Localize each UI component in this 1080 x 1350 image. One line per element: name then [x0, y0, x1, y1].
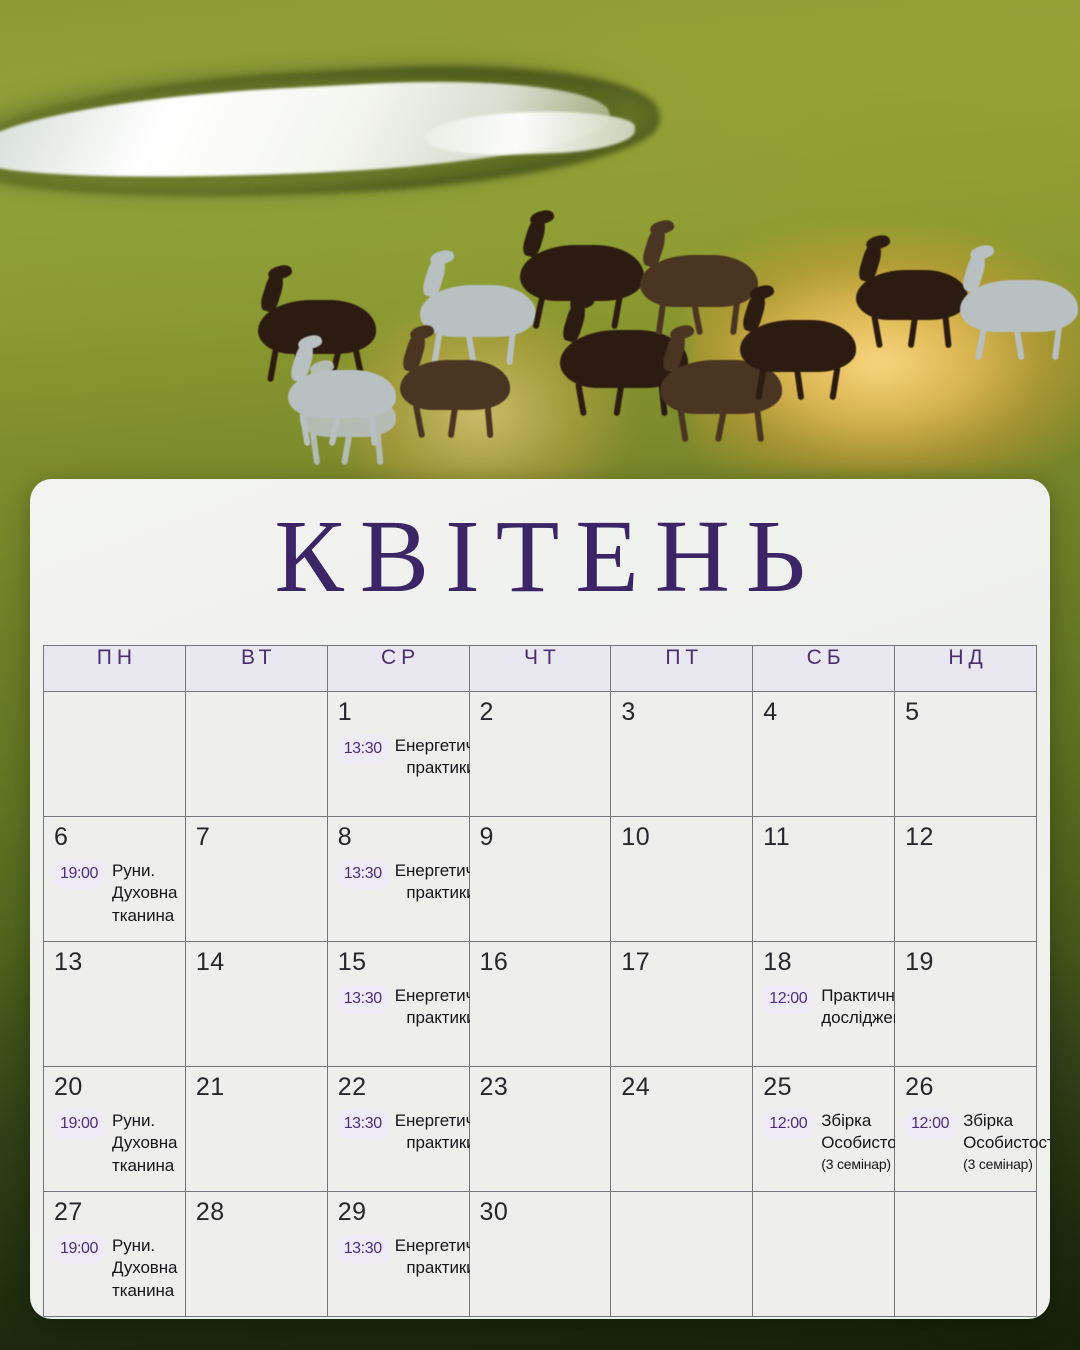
day-number: 8	[328, 817, 469, 850]
calendar-poster: КВІТЕНЬ ПН ВТ СР ЧТ ПТ СБ НД 113:30Енерг…	[0, 0, 1080, 1350]
event-title: Збірка Особистості(3 семінар)	[963, 1110, 1050, 1173]
calendar-event[interactable]: 12:00Збірка Особистості(3 семінар)	[753, 1100, 894, 1173]
day-number: 4	[753, 692, 894, 725]
calendar-day-cell[interactable]: 2019:00Руни. Духовна тканина	[44, 1067, 186, 1192]
calendar-day-cell[interactable]: 14	[185, 942, 327, 1067]
day-number: 23	[470, 1067, 611, 1100]
calendar-week-row: 2019:00Руни. Духовна тканина212213:30Ене…	[44, 1067, 1037, 1192]
day-number: 30	[470, 1192, 611, 1225]
event-title: Руни. Духовна тканина	[112, 1235, 179, 1302]
weekday-header-mon: ПН	[44, 646, 186, 692]
calendar-table: ПН ВТ СР ЧТ ПТ СБ НД 113:30Енергетичні п…	[43, 645, 1037, 1317]
day-number: 21	[186, 1067, 327, 1100]
calendar-event[interactable]: 13:30Енергетичні практики	[328, 725, 469, 780]
day-number: 22	[328, 1067, 469, 1100]
horse-silhouette	[400, 360, 510, 410]
day-number: 26	[895, 1067, 1036, 1100]
calendar-day-cell[interactable]: 19	[895, 942, 1037, 1067]
calendar-day-cell[interactable]: 24	[611, 1067, 753, 1192]
event-time-badge: 19:00	[53, 1110, 105, 1139]
event-title: Руни. Духовна тканина	[112, 860, 179, 927]
calendar-day-cell[interactable]: 113:30Енергетичні практики	[327, 692, 469, 817]
day-number: 5	[895, 692, 1036, 725]
calendar-day-cell[interactable]: 2719:00Руни. Духовна тканина	[44, 1192, 186, 1317]
event-time-badge: 19:00	[53, 1235, 105, 1264]
calendar-event[interactable]: 19:00Руни. Духовна тканина	[44, 1225, 185, 1302]
calendar-day-cell[interactable]: 30	[469, 1192, 611, 1317]
calendar-week-row: 13141513:30Енергетичні практики16171812:…	[44, 942, 1037, 1067]
day-number: 28	[186, 1192, 327, 1225]
calendar-day-cell[interactable]: 21	[185, 1067, 327, 1192]
calendar-day-cell[interactable]: 813:30Енергетичні практики	[327, 817, 469, 942]
calendar-day-cell[interactable]: 5	[895, 692, 1037, 817]
calendar-event[interactable]: 19:00Руни. Духовна тканина	[44, 850, 185, 927]
calendar-event[interactable]: 19:00Руни. Духовна тканина	[44, 1100, 185, 1177]
calendar-event[interactable]: 12:00Збірка Особистості(3 семінар)	[895, 1100, 1036, 1173]
event-title: Руни. Духовна тканина	[112, 1110, 179, 1177]
event-time-badge: 13:30	[337, 1110, 389, 1139]
calendar-day-cell[interactable]: 13	[44, 942, 186, 1067]
day-number: 17	[611, 942, 752, 975]
day-number: 29	[328, 1192, 469, 1225]
day-number: 15	[328, 942, 469, 975]
calendar-event[interactable]: 13:30Енергетичні практики	[328, 1100, 469, 1155]
calendar-card: КВІТЕНЬ ПН ВТ СР ЧТ ПТ СБ НД 113:30Енерг…	[30, 479, 1050, 1319]
day-number: 18	[753, 942, 894, 975]
day-number: 24	[611, 1067, 752, 1100]
calendar-day-cell[interactable]: 23	[469, 1067, 611, 1192]
calendar-day-cell[interactable]: 9	[469, 817, 611, 942]
day-number: 3	[611, 692, 752, 725]
calendar-day-cell[interactable]: 3	[611, 692, 753, 817]
day-number: 7	[186, 817, 327, 850]
calendar-empty-cell	[753, 1192, 895, 1317]
calendar-day-cell[interactable]: 12	[895, 817, 1037, 942]
calendar-day-cell[interactable]: 1513:30Енергетичні практики	[327, 942, 469, 1067]
day-number: 13	[44, 942, 185, 975]
calendar-event[interactable]: 13:30Енергетичні практики	[328, 1225, 469, 1280]
calendar-day-cell[interactable]: 619:00Руни. Духовна тканина	[44, 817, 186, 942]
day-number: 25	[753, 1067, 894, 1100]
horse-silhouette	[640, 255, 758, 307]
weekday-header-wed: СР	[327, 646, 469, 692]
event-time-badge: 12:00	[762, 985, 814, 1014]
weekday-header-tue: ВТ	[185, 646, 327, 692]
weekday-header-sat: СБ	[753, 646, 895, 692]
event-time-badge: 13:30	[337, 735, 389, 764]
calendar-event[interactable]: 13:30Енергетичні практики	[328, 850, 469, 905]
day-number: 1	[328, 692, 469, 725]
horse-silhouette	[420, 285, 536, 337]
calendar-body: 113:30Енергетичні практики2345619:00Руни…	[44, 692, 1037, 1317]
horse-silhouette	[520, 245, 644, 301]
day-number: 27	[44, 1192, 185, 1225]
calendar-container: ПН ВТ СР ЧТ ПТ СБ НД 113:30Енергетичні п…	[43, 645, 1037, 1317]
calendar-empty-cell	[611, 1192, 753, 1317]
event-time-badge: 13:30	[337, 985, 389, 1014]
calendar-day-cell[interactable]: 2512:00Збірка Особистості(3 семінар)	[753, 1067, 895, 1192]
day-number: 9	[470, 817, 611, 850]
weekday-header-sun: НД	[895, 646, 1037, 692]
day-number: 14	[186, 942, 327, 975]
horse-silhouette	[960, 280, 1078, 332]
calendar-day-cell[interactable]: 2213:30Енергетичні практики	[327, 1067, 469, 1192]
calendar-day-cell[interactable]: 28	[185, 1192, 327, 1317]
calendar-event[interactable]: 13:30Енергетичні практики	[328, 975, 469, 1030]
day-number: 16	[470, 942, 611, 975]
calendar-day-cell[interactable]: 2	[469, 692, 611, 817]
event-time-badge: 12:00	[904, 1110, 956, 1139]
day-number: 2	[470, 692, 611, 725]
event-time-badge: 13:30	[337, 1235, 389, 1264]
calendar-empty-cell	[185, 692, 327, 817]
calendar-day-cell[interactable]: 2913:30Енергетичні практики	[327, 1192, 469, 1317]
event-time-badge: 12:00	[762, 1110, 814, 1139]
calendar-day-cell[interactable]: 4	[753, 692, 895, 817]
calendar-week-row: 619:00Руни. Духовна тканина7813:30Енерге…	[44, 817, 1037, 942]
weekday-header-fri: ПТ	[611, 646, 753, 692]
calendar-week-row: 2719:00Руни. Духовна тканина282913:30Ене…	[44, 1192, 1037, 1317]
calendar-event[interactable]: 12:00Практичні дослідження	[753, 975, 894, 1030]
day-number: 19	[895, 942, 1036, 975]
calendar-day-cell[interactable]: 7	[185, 817, 327, 942]
event-subtitle: (3 семінар)	[963, 1155, 1050, 1173]
calendar-day-cell[interactable]: 11	[753, 817, 895, 942]
day-number: 20	[44, 1067, 185, 1100]
weekday-header-row: ПН ВТ СР ЧТ ПТ СБ НД	[44, 646, 1037, 692]
calendar-day-cell[interactable]: 10	[611, 817, 753, 942]
calendar-empty-cell	[44, 692, 186, 817]
calendar-empty-cell	[895, 1192, 1037, 1317]
horse-silhouette	[740, 320, 856, 372]
horse-silhouette	[300, 395, 396, 437]
day-number: 6	[44, 817, 185, 850]
weekday-header-thu: ЧТ	[469, 646, 611, 692]
event-time-badge: 13:30	[337, 860, 389, 889]
day-number: 11	[753, 817, 894, 850]
horse-silhouette	[856, 270, 968, 320]
event-time-badge: 19:00	[53, 860, 105, 889]
day-number: 10	[611, 817, 752, 850]
calendar-day-cell[interactable]: 2612:00Збірка Особистості(3 семінар)	[895, 1067, 1037, 1192]
day-number: 12	[895, 817, 1036, 850]
calendar-week-row: 113:30Енергетичні практики2345	[44, 692, 1037, 817]
page-title: КВІТЕНЬ	[30, 479, 1050, 613]
calendar-day-cell[interactable]: 16	[469, 942, 611, 1067]
calendar-day-cell[interactable]: 17	[611, 942, 753, 1067]
calendar-day-cell[interactable]: 1812:00Практичні дослідження	[753, 942, 895, 1067]
